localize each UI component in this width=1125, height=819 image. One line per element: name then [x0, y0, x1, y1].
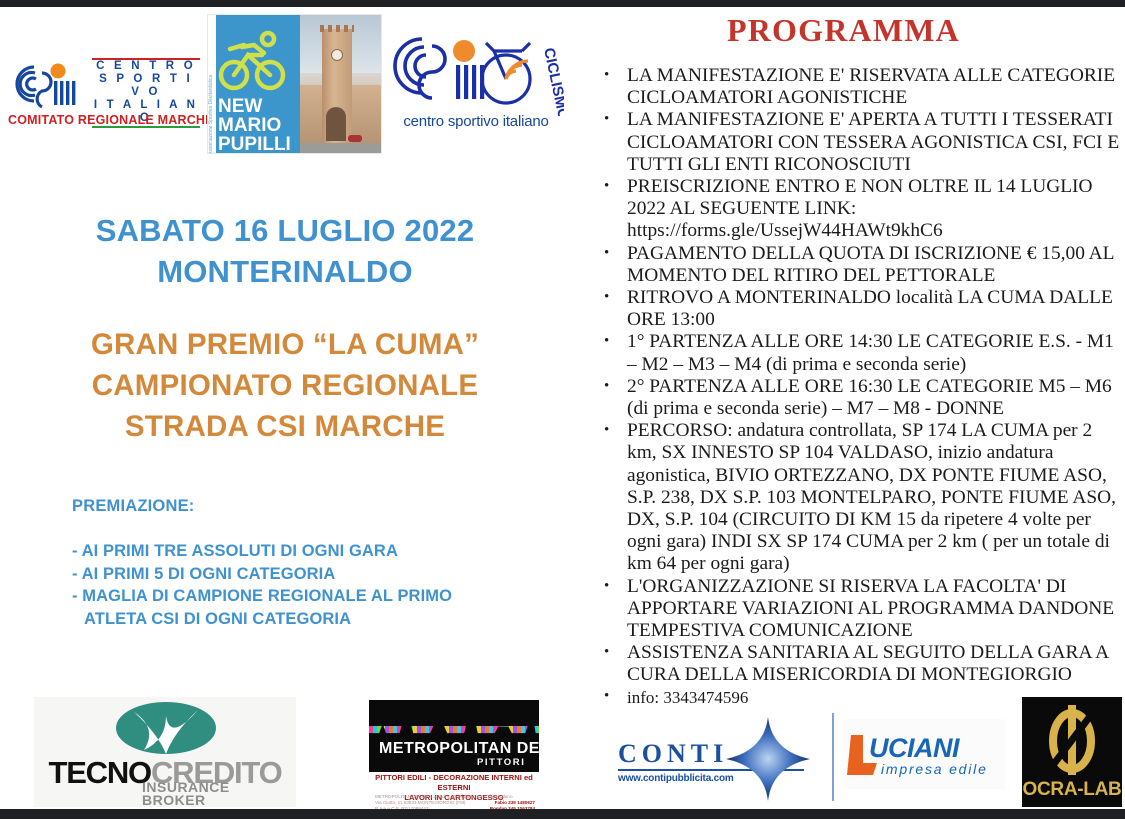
programma-item: RITROVO A MONTERINALDO località LA CUMA … [600, 287, 1125, 331]
award-item: - AI PRIMI 5 DI OGNI CATEGORIA [72, 563, 570, 586]
conti-star-icon [726, 717, 810, 801]
programma-item: 1° PARTENZA ALLE ORE 14:30 LE CATEGORIE … [600, 331, 1125, 375]
programma-item: ASSISTENZA SANITARIA AL SEGUITO DELLA GA… [600, 642, 1125, 686]
pupilli-line-pupilli: PUPILLI [218, 135, 298, 154]
poster-page: C E N T R O S P O R T I V O I T A L I A … [0, 0, 1125, 819]
programma-item: LA MANIFESTAZIONE E' RISERVATA ALLE CATE… [600, 65, 1125, 109]
ocra-lab-wordmark: OCRA-LAB [1022, 779, 1122, 801]
metropolitan-pittori: PITTORI [477, 757, 526, 768]
top-border-bar [0, 0, 1125, 7]
csi-word-centro: C E N T R O [92, 60, 200, 73]
awards-heading: PREMIAZIONE: [0, 497, 570, 516]
csi-comitato-label: COMITATO REGIONALE MARCHE [8, 113, 200, 127]
svg-text:CICLISMO: CICLISMO [540, 46, 564, 116]
programma-item: PERCORSO: andatura controllata, SP 174 L… [600, 420, 1125, 575]
pupilli-line-new: NEW [218, 97, 298, 116]
event-title-line2: CAMPIONATO REGIONALE [0, 365, 570, 406]
conti-divider [832, 713, 834, 801]
pupilli-line-mario: MARIO [218, 116, 298, 135]
event-title-line1: GRAN PREMIO “LA CUMA” [0, 324, 570, 365]
sponsor-row: TECNOCREDITO INSURANCE BROKER METROPOLIT… [0, 697, 1125, 809]
programma-item: 2° PARTENZA ALLE ORE 16:30 LE CATEGORIE … [600, 376, 1125, 420]
luciani-subtitle: impresa edile [881, 761, 988, 777]
csi-ciclismo-label: centro sportivo italiano [388, 113, 564, 130]
pupilli-name: NEW MARIO PUPILLI [218, 97, 298, 154]
bottom-border-bar [0, 809, 1125, 819]
metropolitan-service-line1: PITTORI EDILI - DECORAZIONE INTERNI ed E… [369, 773, 539, 793]
photo-car [348, 135, 362, 142]
metropolitan-title: METROPOLITAN DECOR [379, 740, 529, 758]
header-logo-row: C E N T R O S P O R T I V O I T A L I A … [0, 7, 570, 150]
photo-tower-merlons [320, 25, 354, 32]
pupilli-side-text: Associazione Sportiva Dilettantistica [208, 73, 216, 154]
luciani-wordmark: UCIANI [869, 733, 959, 764]
conti-website[interactable]: www.contipubblicita.com [618, 773, 734, 784]
csi-word-sportivo: S P O R T I V O [92, 73, 200, 99]
logo-metropolitan-decor: METROPOLITAN DECOR PITTORI PITTORI EDILI… [369, 700, 539, 807]
logo-ocra-lab: OCRA-LAB [1022, 697, 1122, 807]
pupilli-town-photo [300, 15, 382, 154]
pupilli-cyclist-icon [218, 29, 292, 95]
programma-item: L'ORGANIZZAZIONE SI RISERVA LA FACOLTA' … [600, 576, 1125, 643]
photo-road [300, 143, 382, 154]
event-title-block: GRAN PREMIO “LA CUMA” CAMPIONATO REGIONA… [0, 324, 570, 447]
programma-item: LA MANIFESTAZIONE E' APERTA A TUTTI I TE… [600, 109, 1125, 176]
programma-item: PREISCRIZIONE ENTRO E NON OLTRE IL 14 LU… [600, 176, 1125, 243]
logo-new-mario-pupilli: NEW MARIO PUPILLI Associazione Sportiva … [207, 14, 382, 154]
tecnocredito-word-tecno: TECNO [48, 755, 151, 790]
metropolitan-art-panel: METROPOLITAN DECOR PITTORI [369, 700, 539, 772]
conti-wordmark: CONTI [618, 739, 728, 769]
csi-swirl-icon [8, 59, 88, 109]
event-date: SABATO 16 LUGLIO 2022 [0, 210, 570, 251]
photo-archway [326, 107, 346, 141]
tecnocredito-subtitle: INSURANCE BROKER [142, 781, 230, 807]
event-title-line3: STRADA CSI MARCHE [0, 406, 570, 447]
award-item: - MAGLIA DI CAMPIONE REGIONALE AL PRIMO [72, 585, 570, 608]
programma-list: LA MANIFESTAZIONE E' RISERVATA ALLE CATE… [578, 65, 1125, 708]
right-column: PROGRAMMA LA MANIFESTAZIONE E' RISERVATA… [578, 12, 1125, 708]
logo-csi-ciclismo: CICLISMO centro sportivo italiano [388, 21, 564, 141]
metropolitan-sky [369, 700, 539, 726]
photo-clock-face [331, 49, 343, 61]
awards-list: - AI PRIMI TRE ASSOLUTI DI OGNI GARA - A… [0, 540, 570, 630]
award-item: - AI PRIMI TRE ASSOLUTI DI OGNI GARA [72, 540, 570, 563]
csi-ciclismo-icon: CICLISMO [388, 21, 564, 116]
logo-tecnocredito: TECNOCREDITO INSURANCE BROKER [34, 697, 296, 807]
event-location: MONTERINALDO [0, 251, 570, 292]
ocra-phi-icon [1044, 703, 1100, 777]
logo-conti-pubblicita: CONTI www.contipubblicita.com [610, 711, 840, 803]
logo-csi-marche: C E N T R O S P O R T I V O I T A L I A … [8, 57, 200, 131]
left-column: SABATO 16 LUGLIO 2022 MONTERINALDO GRAN … [0, 160, 570, 630]
event-date-block: SABATO 16 LUGLIO 2022 MONTERINALDO [0, 210, 570, 292]
tecnocredito-swoosh-icon [114, 702, 218, 758]
tecnocredito-sub-broker: BROKER [142, 794, 230, 807]
award-item: ATLETA CSI DI OGNI CATEGORIA [72, 608, 570, 631]
programma-title: PROGRAMMA [562, 12, 1125, 49]
logo-luciani: UCIANI impresa edile [845, 719, 1005, 789]
programma-item: PAGAMENTO DELLA QUOTA DI ISCRIZIONE € 15… [600, 243, 1125, 287]
